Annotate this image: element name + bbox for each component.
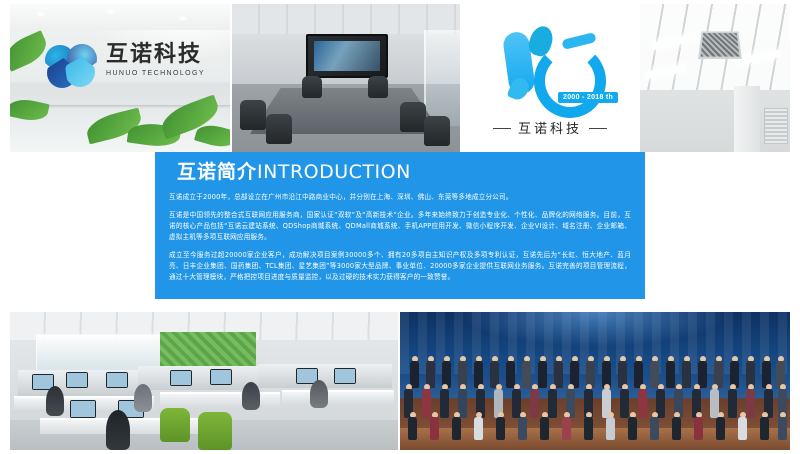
wall-display-screen bbox=[306, 34, 388, 78]
anniversary-company-label: 互诺科技 bbox=[518, 122, 582, 137]
computer-monitor bbox=[106, 372, 128, 388]
introduction-panel: 互诺简介INTRODUCTION 互诺成立于2000年，总部设立在广州市沿江中路… bbox=[155, 152, 645, 299]
photo-meeting-room bbox=[232, 4, 460, 152]
introduction-paragraph-3: 成立至今服务过超20000家企业客户，成功解决项目案例30000多个、拥有20多… bbox=[169, 250, 631, 283]
anniversary-company-name: 互诺科技 bbox=[462, 118, 638, 137]
introduction-paragraph-2: 互诺是中国领先的整合式互联网应用服务商，国家认证“双软”及“高新技术”企业。多年… bbox=[169, 210, 631, 243]
decorative-rule-left bbox=[493, 128, 511, 129]
photo-office-corridor bbox=[640, 4, 790, 152]
introduction-paragraph-1: 互诺成立于2000年，总部设立在广州市沿江中路商业中心，并分别在上海、深圳、佛山… bbox=[169, 192, 631, 203]
glass-partition bbox=[424, 30, 460, 126]
ceiling-light-icon bbox=[36, 12, 45, 17]
office-desk bbox=[40, 418, 220, 434]
photo-anniversary-card: 2000 - 2018 th 互诺科技 bbox=[462, 4, 638, 152]
office-chair bbox=[368, 76, 388, 98]
decorative-rule-right bbox=[589, 128, 607, 129]
seated-employee bbox=[242, 382, 260, 410]
introduction-body: 互诺成立于2000年，总部设立在广州市沿江中路商业中心，并分别在上海、深圳、佛山… bbox=[169, 192, 631, 290]
lobby-ceiling bbox=[10, 4, 230, 30]
air-conditioner-unit bbox=[764, 108, 788, 144]
introduction-title-en: INTRODUCTION bbox=[257, 161, 411, 183]
office-desk bbox=[160, 392, 280, 406]
introduction-title-cn: 互诺简介 bbox=[177, 161, 257, 183]
green-office-chair bbox=[198, 412, 232, 450]
air-vent-icon bbox=[698, 31, 742, 58]
collage-canvas: 互诺科技 HUNUO TECHNOLOGY 2000 - 2018 th bbox=[0, 0, 800, 454]
green-office-chair bbox=[160, 408, 190, 442]
office-chair bbox=[302, 76, 322, 98]
logo-chinese-name: 互诺科技 bbox=[106, 44, 205, 66]
photo-open-plan-office bbox=[10, 312, 398, 450]
ceiling-light-icon bbox=[106, 9, 115, 14]
seated-employee bbox=[134, 384, 152, 412]
computer-monitor bbox=[170, 370, 192, 386]
photo-office-lobby: 互诺科技 HUNUO TECHNOLOGY bbox=[10, 4, 230, 152]
introduction-title: 互诺简介INTRODUCTION bbox=[177, 162, 411, 183]
anniversary-years-badge: 2000 - 2018 th bbox=[558, 92, 618, 103]
group-row-front bbox=[400, 412, 790, 442]
computer-monitor bbox=[210, 369, 232, 385]
computer-monitor bbox=[66, 372, 88, 388]
desk-partition bbox=[138, 366, 258, 390]
office-chair bbox=[400, 102, 426, 132]
office-desk bbox=[282, 390, 394, 404]
computer-monitor bbox=[334, 368, 356, 384]
hunuo-logo-mark-icon bbox=[45, 42, 101, 86]
seated-employee bbox=[310, 380, 328, 408]
computer-monitor bbox=[70, 400, 96, 418]
office-chair bbox=[424, 116, 450, 146]
seated-employee bbox=[46, 386, 64, 416]
photo-company-group bbox=[400, 312, 790, 450]
hunuo-logo-text: 互诺科技 HUNUO TECHNOLOGY bbox=[106, 44, 205, 77]
corridor-column bbox=[734, 86, 760, 152]
office-chair bbox=[266, 114, 292, 144]
ceiling-light-icon bbox=[178, 16, 187, 21]
seated-employee bbox=[106, 410, 130, 450]
office-chair bbox=[240, 100, 266, 130]
logo-english-name: HUNUO TECHNOLOGY bbox=[106, 70, 205, 77]
